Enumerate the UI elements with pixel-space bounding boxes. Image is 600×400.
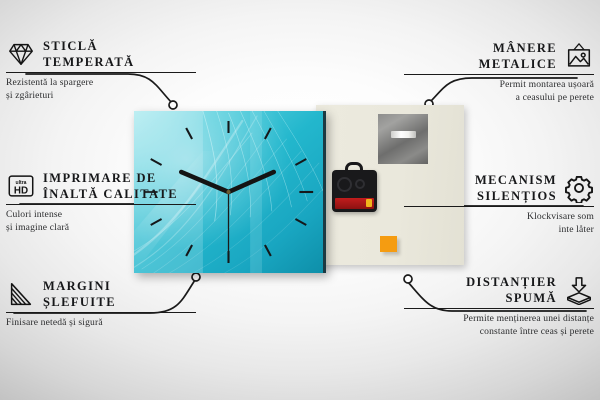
mechanism-dial [337,177,352,192]
polished-edge-icon [6,279,36,309]
feature-subtitle: Permite menținerea unei distanțe constan… [404,313,594,338]
feature-subtitle: Permit montarea ușoară a ceasului pe per… [404,79,594,104]
feature-title: MÂNERE METALICE [479,40,557,72]
mechanism-dial-secondary [355,179,365,189]
diamond-icon [6,39,36,69]
feature-divider [6,72,196,73]
clock-mechanism [332,170,377,212]
feature-tempered-glass[interactable]: STICLĂ TEMPERATĂ Rezistentă la spargere … [6,38,196,102]
feature-high-quality-print[interactable]: ultra HD IMPRIMARE DE ÎNALTĂ CALITATE Cu… [6,170,196,234]
foam-spacer-pad [380,236,397,252]
feature-divider [404,74,594,75]
feature-polished-edges[interactable]: MARGINI ȘLEFUITE Finisare netedă și sigu… [6,278,196,330]
feature-divider [6,312,196,313]
battery [335,198,374,209]
foam-spacer-icon [564,275,594,305]
feature-title: STICLĂ TEMPERATĂ [43,38,135,70]
feature-subtitle: Finisare netedă și sigură [6,317,196,330]
gear-icon [564,173,594,203]
feature-subtitle: Klockvisare som inte låter [404,211,594,236]
infographic-canvas: STICLĂ TEMPERATĂ Rezistentă la spargere … [0,0,600,400]
feature-foam-spacer[interactable]: DISTANȚIER SPUMĂ Permite menținerea unei… [404,274,594,338]
feature-title: IMPRIMARE DE ÎNALTĂ CALITATE [43,170,178,202]
svg-text:HD: HD [14,186,28,197]
feature-title: DISTANȚIER SPUMĂ [466,274,557,306]
feature-divider [404,206,594,207]
hands-center-cap [226,190,230,194]
metal-hanger [378,114,428,164]
picture-frame-icon [564,41,594,71]
feature-title: MARGINI ȘLEFUITE [43,278,116,310]
feature-silent-mechanism[interactable]: MECANISM SILENȚIOS Klockvisare som inte … [404,172,594,236]
ultra-hd-icon: ultra HD [6,171,36,201]
feature-divider [6,204,196,205]
feature-title: MECANISM SILENȚIOS [475,172,557,204]
feature-divider [404,308,594,309]
mechanism-hook [345,162,363,174]
feature-metal-hangers[interactable]: MÂNERE METALICE Permit montarea ușoară a… [404,40,594,104]
feature-subtitle: Culori intense și imagine clară [6,209,196,234]
feature-subtitle: Rezistentă la spargere și zgârieturi [6,77,196,102]
